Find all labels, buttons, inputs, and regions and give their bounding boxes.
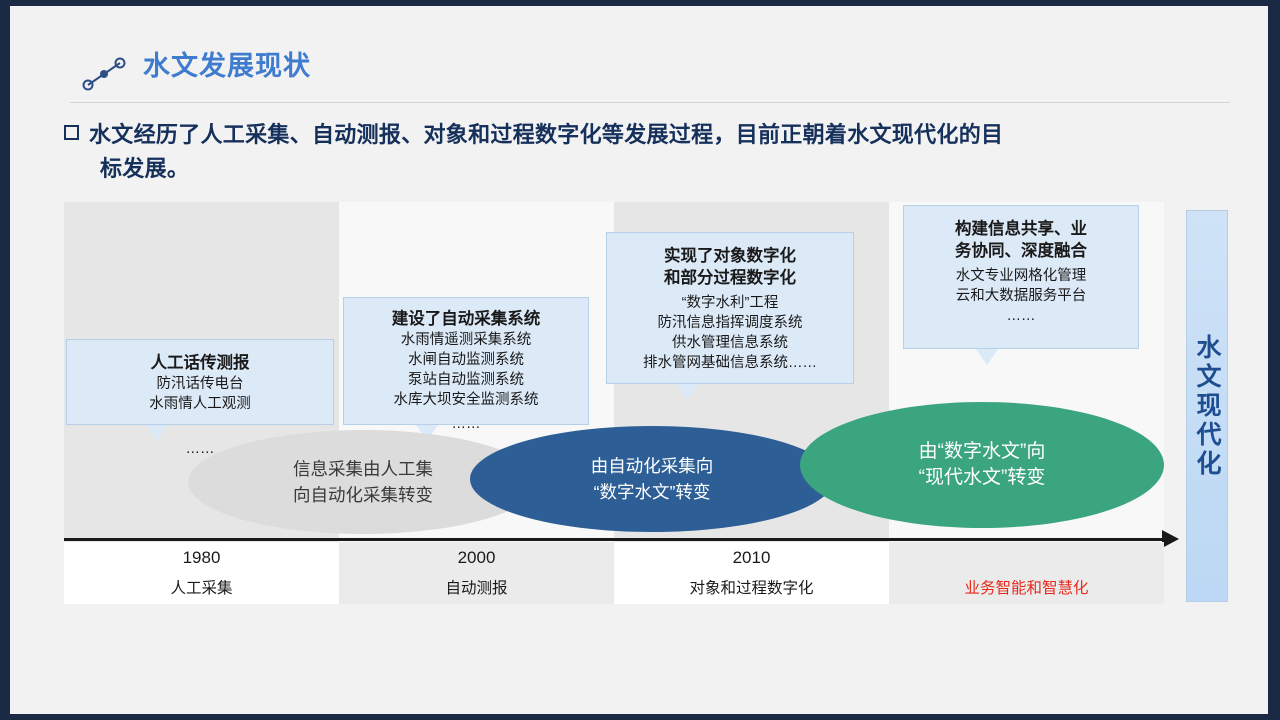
callout-information-sharing: 构建信息共享、业 务协同、深度融合 水文专业网格化管理 云和大数据服务平台 …… <box>903 205 1139 349</box>
callout-3-title-line-2: 和部分过程数字化 <box>607 267 853 289</box>
callout-3-tail <box>676 384 698 400</box>
node-link-icon <box>82 54 126 94</box>
ellipse-1-line-2: 向自动化采集转变 <box>293 482 433 508</box>
callout-3-line-4: 排水管网基础信息系统…… <box>607 353 853 373</box>
ellipse-digital-to-modern: 由“数字水文”向 “现代水文”转变 <box>800 402 1164 528</box>
callout-4-line-2: 云和大数据服务平台 <box>904 286 1138 306</box>
callout-3-line-2: 防汛信息指挥调度系统 <box>607 313 853 333</box>
header-divider <box>70 102 1230 103</box>
bullet-line-1: 水文经历了人工采集、自动测报、对象和过程数字化等发展过程，目前正朝着水文现代化的… <box>89 122 1003 147</box>
callout-2-title: 建设了自动采集系统 <box>344 308 588 330</box>
callout-2-line-3: 泵站自动监测系统 <box>344 370 588 390</box>
bullet-line-2: 标发展。 <box>100 152 1224 186</box>
callout-1-tail <box>146 425 168 441</box>
callout-2-line-1: 水雨情遥测采集系统 <box>344 330 588 350</box>
callout-4-line-1: 水文专业网格化管理 <box>904 266 1138 286</box>
callout-4-title-line-2: 务协同、深度融合 <box>904 240 1138 262</box>
ellipse-auto-to-digital: 由自动化采集向 “数字水文”转变 <box>470 426 834 532</box>
timeline-axis <box>64 538 1164 541</box>
callout-2-line-4: 水库大坝安全监测系统 <box>344 390 588 410</box>
callout-1-line-1: 防汛话传电台 <box>67 374 333 394</box>
callout-1-title: 人工话传测报 <box>67 352 333 374</box>
timeline-phase-3: 对象和过程数字化 <box>614 573 889 604</box>
callout-manual-reporting: 人工话传测报 防汛话传电台 水雨情人工观测 <box>66 339 334 425</box>
callout-3-line-3: 供水管理信息系统 <box>607 333 853 353</box>
callout-auto-collection: 建设了自动采集系统 水雨情遥测采集系统 水闸自动监测系统 泵站自动监测系统 水库… <box>343 297 589 425</box>
timeline-phase-4: 业务智能和智慧化 <box>889 573 1164 604</box>
timeline-phase-2: 自动测报 <box>339 573 614 604</box>
timeline-year-4 <box>889 542 1164 573</box>
timeline-year-2: 2000 <box>339 542 614 573</box>
timeline-year-3: 2010 <box>614 542 889 573</box>
vertical-label-modernization: 水文现代化 <box>1186 210 1228 602</box>
ellipse-1-line-1: 信息采集由人工集 <box>293 456 433 482</box>
page-title: 水文发展现状 <box>143 44 311 83</box>
bullet-square-icon <box>64 125 79 140</box>
timeline-phase-1: 人工采集 <box>64 573 339 604</box>
callout-4-tail <box>976 349 998 365</box>
timeline-table: 1980 2000 2010 人工采集 自动测报 对象和过程数字化 业务智能和智… <box>64 542 1164 604</box>
callout-4-title-line-1: 构建信息共享、业 <box>904 218 1138 240</box>
callout-object-digitization: 实现了对象数字化 和部分过程数字化 “数字水利”工程 防汛信息指挥调度系统 供水… <box>606 232 854 384</box>
timeline-arrow-icon <box>1162 530 1179 548</box>
ellipse-2-line-2: “数字水文”转变 <box>591 479 714 505</box>
callout-3-line-1: “数字水利”工程 <box>607 293 853 313</box>
callout-3-title-line-1: 实现了对象数字化 <box>607 245 853 267</box>
callout-1-line-2: 水雨情人工观测 <box>67 394 333 414</box>
slide-canvas: 水文发展现状 水文经历了人工采集、自动测报、对象和过程数字化等发展过程，目前正朝… <box>10 6 1268 714</box>
callout-2-line-2: 水闸自动监测系统 <box>344 350 588 370</box>
timeline-year-1: 1980 <box>64 542 339 573</box>
callout-4-line-3: …… <box>904 306 1138 326</box>
bullet-paragraph: 水文经历了人工采集、自动测报、对象和过程数字化等发展过程，目前正朝着水文现代化的… <box>64 118 1224 186</box>
ellipse-2-line-1: 由自动化采集向 <box>591 453 714 479</box>
ellipse-3-line-1: 由“数字水文”向 <box>919 439 1046 465</box>
vertical-label-text: 水文现代化 <box>1189 334 1225 479</box>
ellipse-3-line-2: “现代水文”转变 <box>919 465 1046 491</box>
